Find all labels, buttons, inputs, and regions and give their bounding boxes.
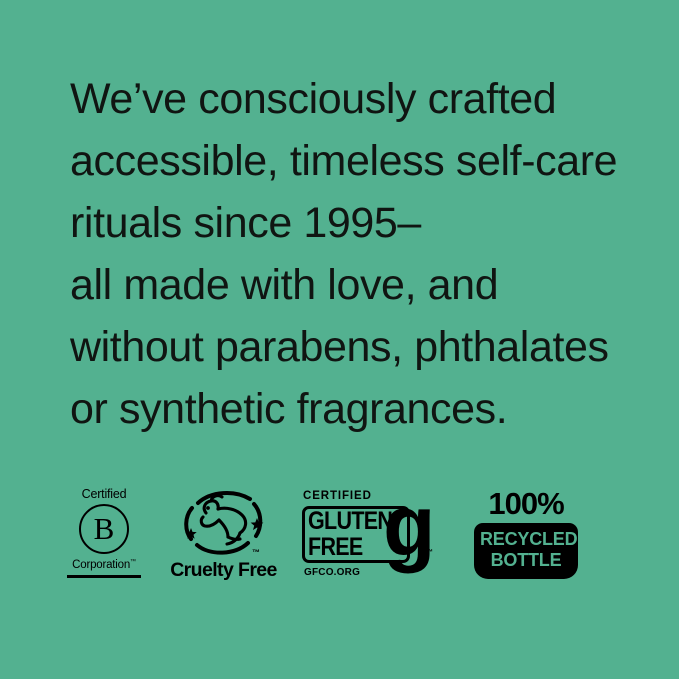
b-corporation-corporation-text: Corporation [72,559,130,571]
gluten-free-url: GFCO.ORG [304,567,360,578]
headline-copy: We’ve consciously crafted accessible, ti… [70,68,670,440]
certification-badge-row: Certified B Corporation™ [0,487,679,592]
b-corporation-underline-rule [67,575,141,578]
b-corporation-corporation-label: Corporation™ [63,556,145,572]
b-corporation-letter: B [94,513,115,544]
cruelty-free-label: Cruelty Free [170,559,277,581]
b-corporation-certified-label: Certified [63,487,145,501]
recycled-bottle-box: RECYCLED BOTTLE [474,523,578,579]
recycled-bottle-badge-icon: 100% RECYCLED BOTTLE [474,487,578,587]
cruelty-free-badge-icon: ™ Cruelty Free [170,487,277,587]
b-corporation-trademark: ™ [130,559,136,565]
recycled-bottle-line-1: RECYCLED [480,529,572,550]
headline-line-2: accessible, timeless self-care [70,130,670,192]
recycled-bottle-line-2: BOTTLE [480,550,572,571]
svg-text:™: ™ [252,548,260,557]
gluten-free-g-mark-icon: g [383,483,434,569]
headline-line-6: or synthetic fragrances. [70,378,670,440]
b-corporation-badge-icon: Certified B Corporation™ [63,487,145,587]
gluten-free-line-2: FREE [308,534,392,560]
headline-line-5: without parabens, phthalates [70,316,670,378]
gluten-free-badge-inner: CERTIFIED GLUTEN FREE g ™ GFCO.ORG [300,487,440,585]
leaping-bunny-icon: ™ [178,487,270,560]
recycled-bottle-percent: 100% [474,487,578,520]
headline-line-1: We’ve consciously crafted [70,68,670,130]
promo-panel: We’ve consciously crafted accessible, ti… [0,0,679,679]
headline-line-3: rituals since 1995– [70,192,670,254]
gluten-free-wordmark: GLUTEN FREE [308,508,392,560]
headline-line-4: all made with love, and [70,254,670,316]
gluten-free-trademark: ™ [426,549,433,556]
gluten-free-line-1: GLUTEN [308,508,392,534]
gluten-free-certified-label: CERTIFIED [303,490,372,502]
b-corporation-circle-icon: B [79,504,129,554]
gluten-free-badge-icon: CERTIFIED GLUTEN FREE g ™ GFCO.ORG [300,487,440,587]
